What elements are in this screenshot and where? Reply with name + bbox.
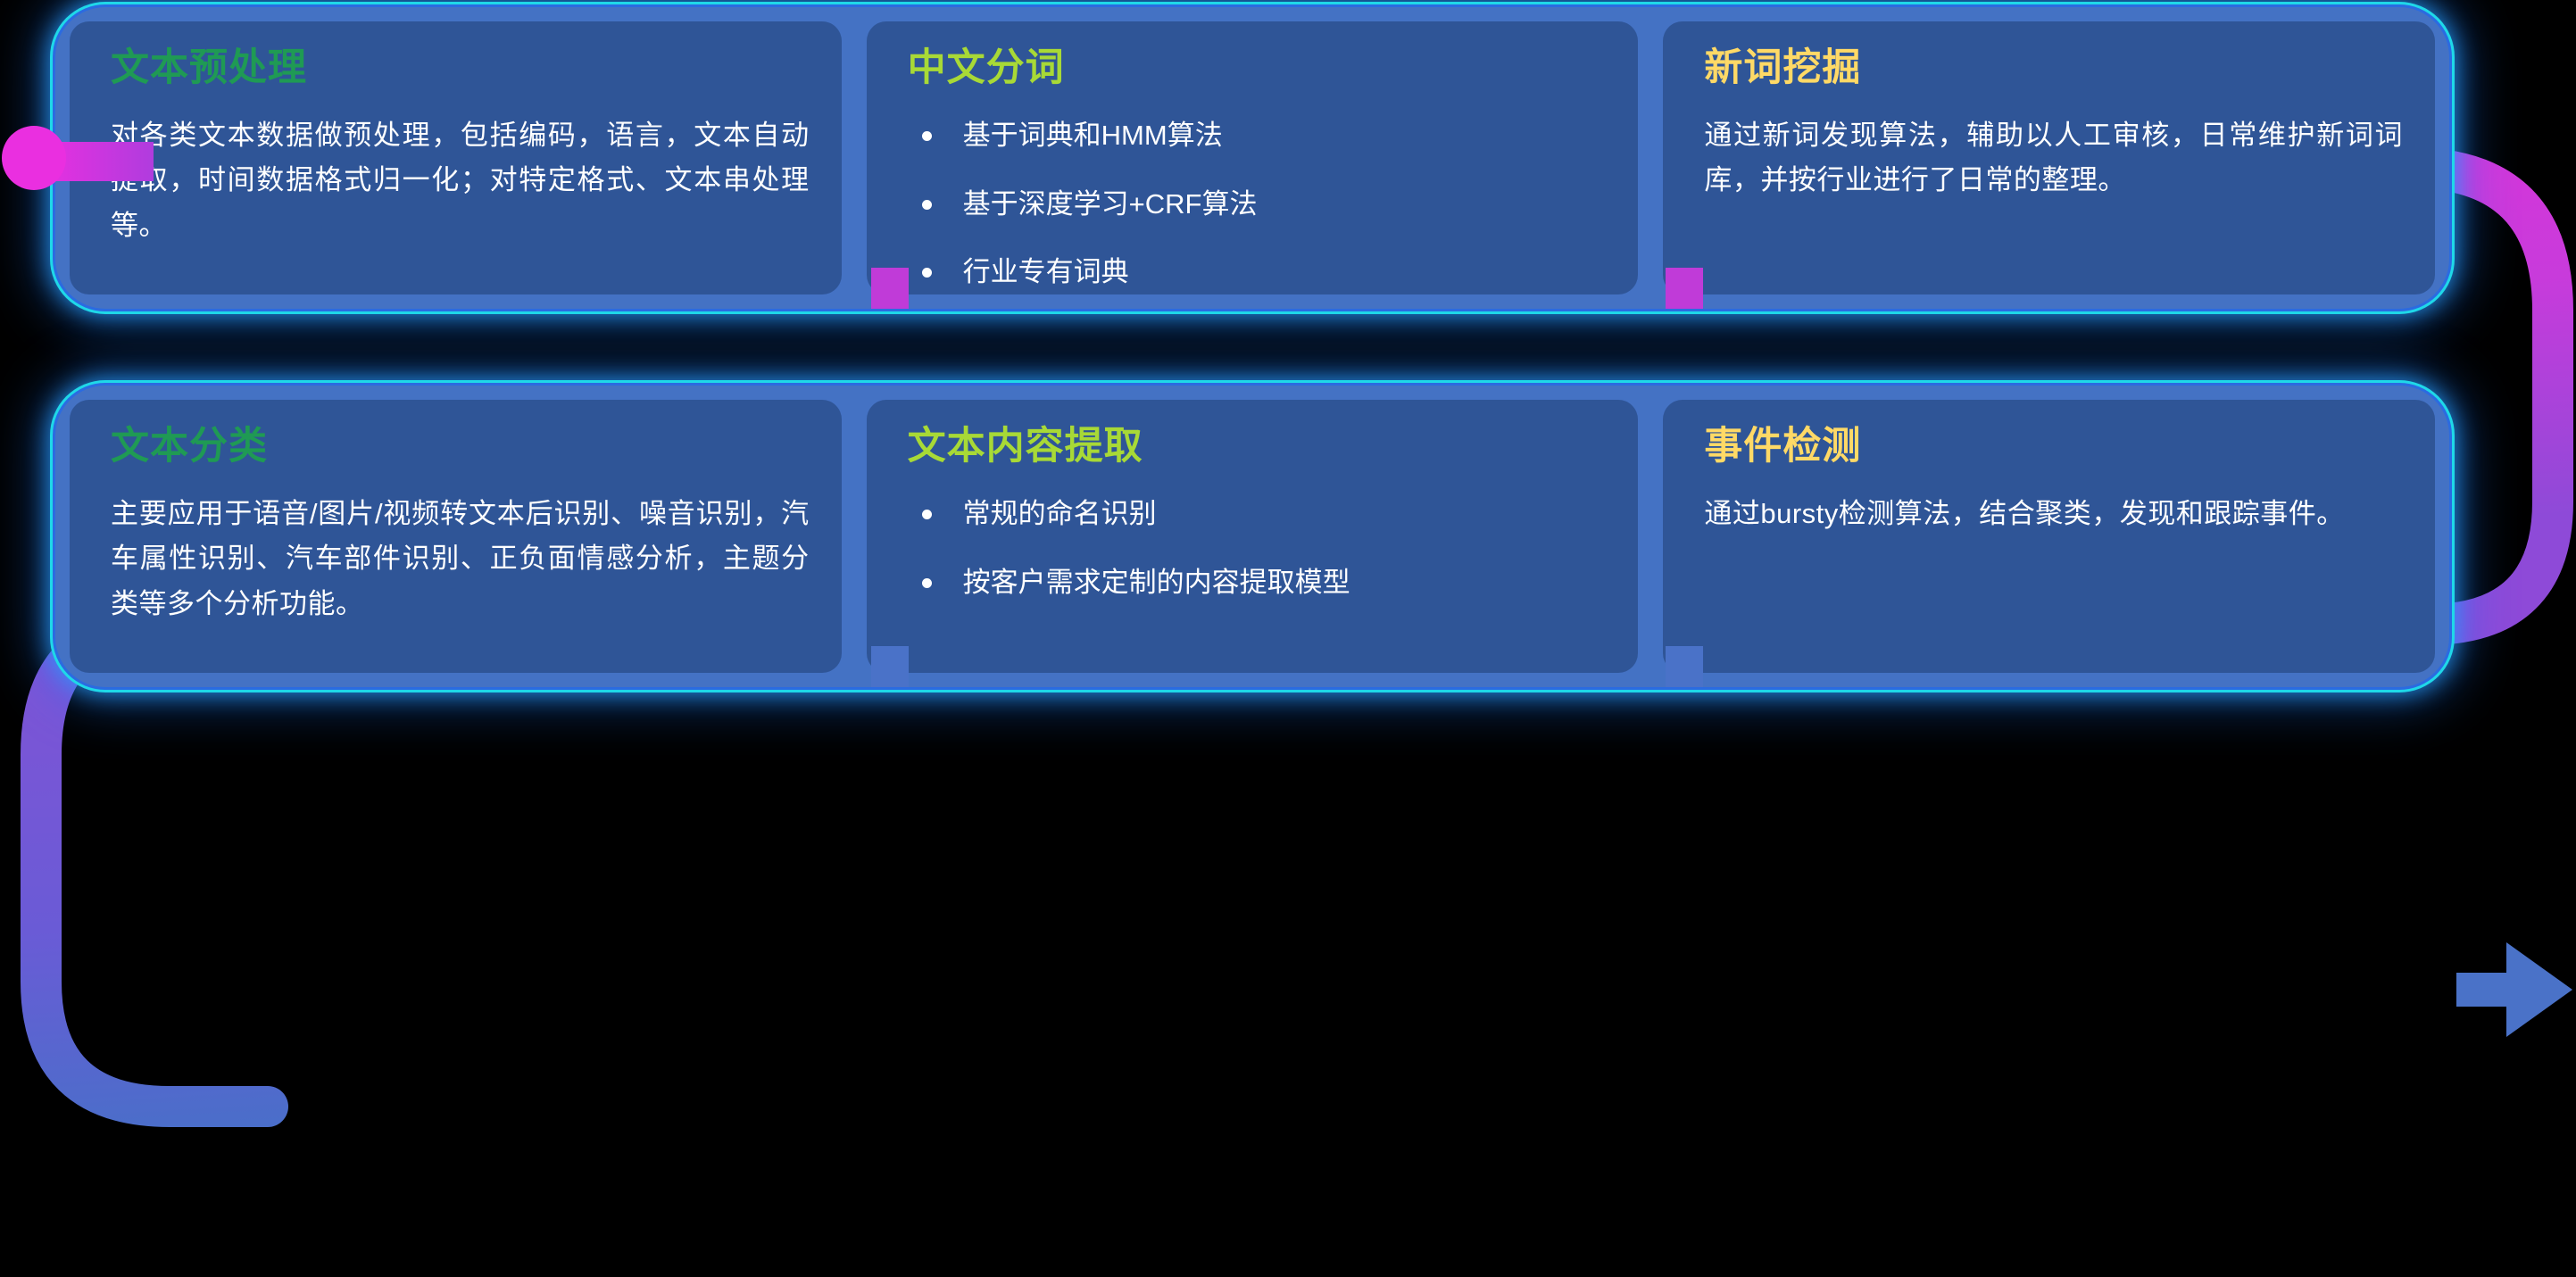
card-body: 通过新词发现算法，辅助以人工审核，日常维护新词词库，并按行业进行了日常的整理。 [1704,113,2403,203]
card-body: 主要应用于语音/图片/视频转文本后识别、噪音识别，汽车属性识别、汽车部件识别、正… [111,492,810,626]
card-text-preprocessing[interactable]: 文本预处理 对各类文本数据做预处理，包括编码，语言，文本自动提取，时间数据格式归… [70,21,842,294]
card-title: 中文分词 [908,48,1607,88]
card-body: 对各类文本数据做预处理，包括编码，语言，文本自动提取，时间数据格式归一化；对特定… [111,113,810,248]
card-title: 文本预处理 [111,48,810,88]
connector-bar-1-2 [871,268,909,309]
card-chinese-word-segmentation[interactable]: 中文分词 基于词典和HMM算法 基于深度学习+CRF算法 行业专有词典 [867,21,1639,294]
diagram-canvas: 文本预处理 对各类文本数据做预处理，包括编码，语言，文本自动提取，时间数据格式归… [0,0,2576,1277]
card-body: 通过bursty检测算法，结合聚类，发现和跟踪事件。 [1704,492,2403,536]
card-bullet-list: 常规的命名识别 按客户需求定制的内容提取模型 [908,492,1607,604]
connector-curve-left [41,625,2428,1107]
card-text-content-extraction[interactable]: 文本内容提取 常规的命名识别 按客户需求定制的内容提取模型 [867,400,1639,673]
card-event-detection[interactable]: 事件检测 通过bursty检测算法，结合聚类，发现和跟踪事件。 [1663,400,2435,673]
connector-bar-2-3 [1666,268,1703,309]
connector-bar-4-5 [871,646,909,687]
end-arrow-icon [2456,937,2574,1042]
connector-bar-5-6 [1666,646,1703,687]
card-new-word-discovery[interactable]: 新词挖掘 通过新词发现算法，辅助以人工审核，日常维护新词词库，并按行业进行了日常… [1663,21,2435,294]
list-item: 基于词典和HMM算法 [908,113,1607,158]
list-item: 按客户需求定制的内容提取模型 [908,560,1607,605]
card-title: 新词挖掘 [1704,48,2403,88]
top-row-cards: 文本预处理 对各类文本数据做预处理，包括编码，语言，文本自动提取，时间数据格式归… [70,21,2435,294]
card-paragraph: 主要应用于语音/图片/视频转文本后识别、噪音识别，汽车属性识别、汽车部件识别、正… [111,492,810,626]
start-dot-icon [2,126,66,190]
card-text-classification[interactable]: 文本分类 主要应用于语音/图片/视频转文本后识别、噪音识别，汽车属性识别、汽车部… [70,400,842,673]
card-bullet-list: 基于词典和HMM算法 基于深度学习+CRF算法 行业专有词典 [908,113,1607,294]
bottom-row-cards: 文本分类 主要应用于语音/图片/视频转文本后识别、噪音识别，汽车属性识别、汽车部… [70,400,2435,673]
card-paragraph: 通过bursty检测算法，结合聚类，发现和跟踪事件。 [1704,492,2403,536]
card-paragraph: 对各类文本数据做预处理，包括编码，语言，文本自动提取，时间数据格式归一化；对特定… [111,113,810,248]
card-paragraph: 通过新词发现算法，辅助以人工审核，日常维护新词词库，并按行业进行了日常的整理。 [1704,113,2403,203]
list-item: 常规的命名识别 [908,492,1607,536]
list-item: 基于深度学习+CRF算法 [908,182,1607,227]
card-title: 文本内容提取 [908,427,1607,467]
list-item: 行业专有词典 [908,250,1607,294]
card-title: 事件检测 [1704,427,2403,467]
card-title: 文本分类 [111,427,810,467]
